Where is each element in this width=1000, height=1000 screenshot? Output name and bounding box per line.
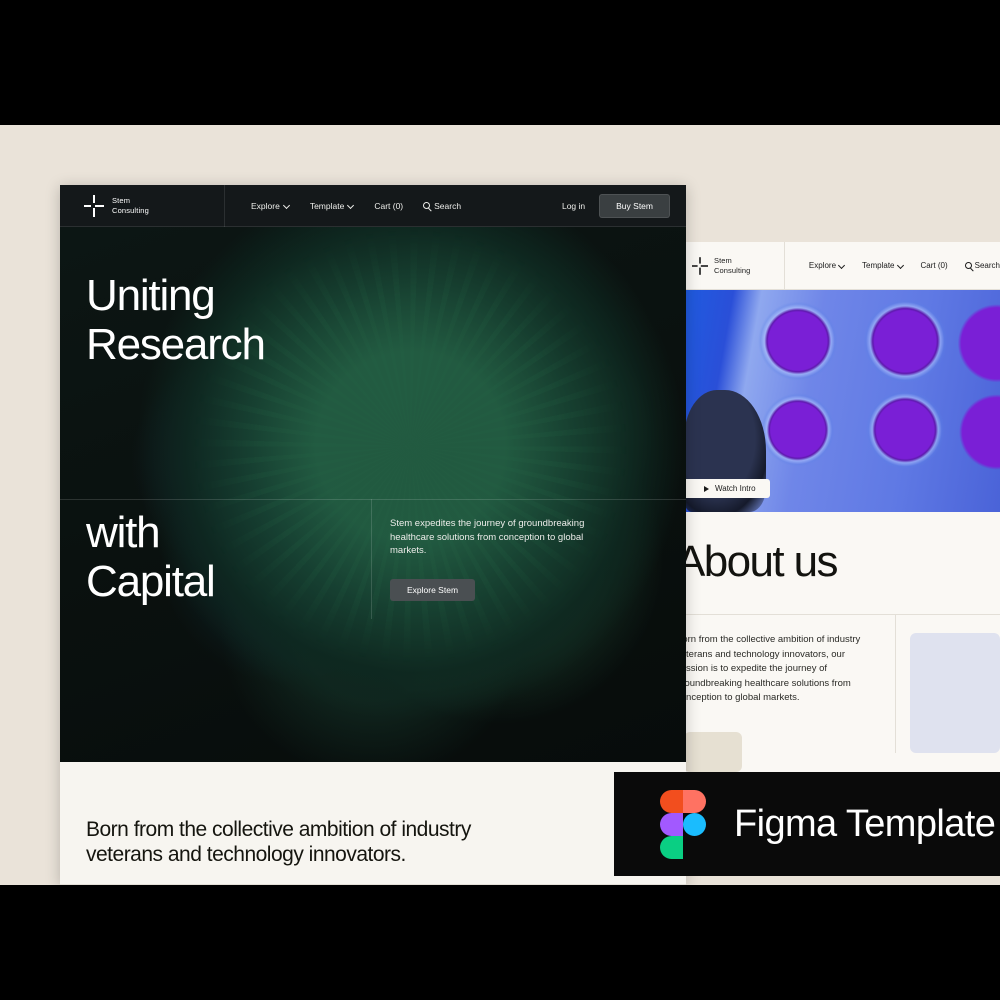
hero-headline-top: Uniting Research bbox=[86, 271, 265, 369]
chevron-down-icon bbox=[348, 203, 354, 209]
secondary-nav-item-cart[interactable]: Cart (0) bbox=[921, 261, 948, 270]
secondary-navbar: Stem Consulting Explore Template Cart (0… bbox=[684, 242, 1000, 290]
watch-intro-label: Watch Intro bbox=[715, 484, 756, 493]
search-icon bbox=[965, 262, 972, 269]
screenshot-stage: Stem Consulting Explore Template Cart (0… bbox=[0, 0, 1000, 1000]
about-card-column bbox=[896, 615, 1000, 753]
explore-stem-button[interactable]: Explore Stem bbox=[390, 579, 475, 601]
secondary-nav-item-explore[interactable]: Explore bbox=[809, 261, 845, 270]
secondary-nav-explore-label: Explore bbox=[809, 261, 836, 270]
nav-item-explore[interactable]: Explore bbox=[251, 201, 290, 211]
nav-cart-label: Cart (0) bbox=[374, 201, 403, 211]
nav-search-label: Search bbox=[434, 201, 461, 211]
primary-nav-links: Explore Template Cart (0) Search bbox=[225, 201, 461, 211]
buy-stem-button[interactable]: Buy Stem bbox=[599, 194, 670, 218]
hero-vertical-rule bbox=[371, 499, 372, 619]
figma-logo-icon bbox=[660, 790, 706, 858]
secondary-nav-links: Explore Template Cart (0) Search bbox=[785, 261, 1000, 270]
primary-navbar: Stem Consulting Explore Template Cart (0… bbox=[60, 185, 686, 227]
figma-template-banner: Figma Template bbox=[614, 772, 1000, 876]
hero-horizontal-rule bbox=[60, 499, 686, 500]
primary-intro-section: Born from the collective ambition of ind… bbox=[60, 762, 686, 885]
primary-logo-text: Stem Consulting bbox=[112, 196, 149, 215]
about-secondary-card bbox=[684, 732, 742, 772]
nav-explore-label: Explore bbox=[251, 201, 280, 211]
primary-logo-line1: Stem bbox=[112, 196, 149, 206]
watch-intro-button[interactable]: Watch Intro bbox=[684, 479, 770, 498]
nav-template-label: Template bbox=[310, 201, 345, 211]
secondary-nav-template-label: Template bbox=[862, 261, 894, 270]
secondary-nav-cart-label: Cart (0) bbox=[921, 261, 948, 270]
hero-headline-bottom: with Capital bbox=[86, 508, 215, 606]
secondary-logo[interactable]: Stem Consulting bbox=[684, 242, 785, 290]
secondary-hero: Watch Intro bbox=[684, 290, 1000, 512]
secondary-browser-panel: Stem Consulting Explore Template Cart (0… bbox=[684, 242, 1000, 772]
plus-cross-logo-icon bbox=[84, 195, 104, 217]
secondary-about-section: About us Born from the collective ambiti… bbox=[684, 512, 1000, 772]
nav-item-search[interactable]: Search bbox=[423, 201, 461, 211]
primary-logo[interactable]: Stem Consulting bbox=[60, 185, 225, 227]
primary-nav-right: Log in Buy Stem bbox=[562, 194, 686, 218]
primary-hero: Uniting Research with Capital Stem exped… bbox=[60, 227, 686, 762]
primary-browser-panel: Stem Consulting Explore Template Cart (0… bbox=[60, 185, 686, 885]
search-icon bbox=[423, 202, 430, 209]
chevron-down-icon bbox=[898, 263, 904, 269]
secondary-logo-text: Stem Consulting bbox=[714, 256, 750, 275]
play-triangle-icon bbox=[704, 486, 709, 492]
secondary-nav-item-search[interactable]: Search bbox=[965, 261, 1000, 270]
secondary-nav-item-template[interactable]: Template bbox=[862, 261, 903, 270]
hero-description: Stem expedites the journey of groundbrea… bbox=[390, 517, 600, 558]
login-link[interactable]: Log in bbox=[562, 201, 585, 211]
chevron-down-icon bbox=[284, 203, 290, 209]
secondary-logo-line2: Consulting bbox=[714, 266, 750, 276]
nav-item-cart[interactable]: Cart (0) bbox=[374, 201, 403, 211]
figma-template-title: Figma Template bbox=[734, 803, 995, 846]
about-image-card bbox=[910, 633, 1000, 753]
primary-logo-line2: Consulting bbox=[112, 206, 149, 216]
chevron-down-icon bbox=[839, 263, 845, 269]
nav-item-template[interactable]: Template bbox=[310, 201, 355, 211]
plus-cross-logo-icon bbox=[692, 257, 708, 275]
collective-ambition-heading: Born from the collective ambition of ind… bbox=[86, 818, 506, 867]
secondary-nav-search-label: Search bbox=[975, 261, 1000, 270]
about-us-title: About us bbox=[684, 538, 1000, 586]
secondary-logo-line1: Stem bbox=[714, 256, 750, 266]
